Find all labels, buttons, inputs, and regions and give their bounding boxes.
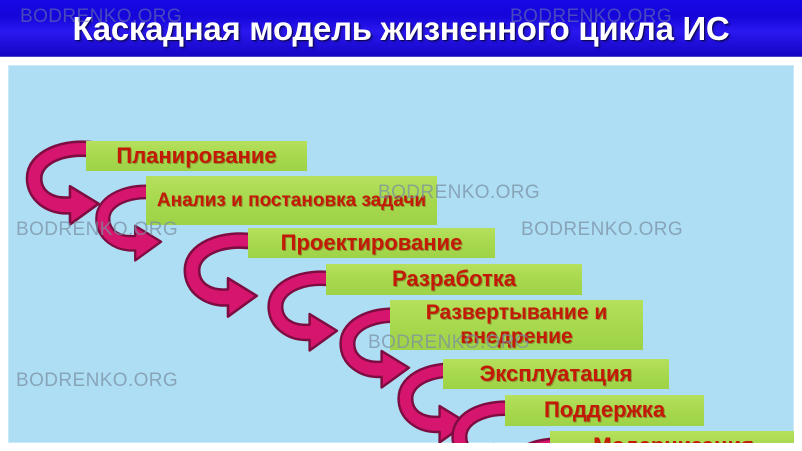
stage-label: Модернизация <box>593 435 754 443</box>
stage-box[interactable]: Развертывание и внедрение <box>390 300 643 350</box>
stage-label: Проектирование <box>281 232 463 254</box>
stage-box[interactable]: Поддержка <box>505 395 704 426</box>
stage-label: Анализ и постановка задачи <box>157 190 426 211</box>
stage-box[interactable]: Анализ и постановка задачи <box>146 176 437 225</box>
stage-box[interactable]: Планирование <box>86 141 307 171</box>
watermark: BODRENKO.ORG <box>16 370 178 392</box>
stage-label: Разработка <box>392 268 516 290</box>
stage-box[interactable]: Проектирование <box>248 228 495 258</box>
stage-box[interactable]: Разработка <box>326 264 582 295</box>
page-title: Каскадная модель жизненного цикла ИС <box>0 0 802 57</box>
title-bar: Каскадная модель жизненного цикла ИС BOD… <box>0 0 802 57</box>
watermark: BODRENKO.ORG <box>521 219 683 241</box>
stage-box[interactable]: Эксплуатация <box>443 359 669 389</box>
stage-label: Поддержка <box>544 399 665 421</box>
slide: Каскадная модель жизненного цикла ИС BOD… <box>0 0 802 451</box>
stage-label: Развертывание и внедрение <box>396 301 637 348</box>
diagram-area: ПланированиеАнализ и постановка задачиПр… <box>8 65 794 443</box>
stage-label: Планирование <box>116 145 276 167</box>
diagram-canvas: ПланированиеАнализ и постановка задачиПр… <box>0 57 802 451</box>
stage-label: Эксплуатация <box>480 363 633 385</box>
stage-box[interactable]: Модернизация <box>550 431 794 443</box>
